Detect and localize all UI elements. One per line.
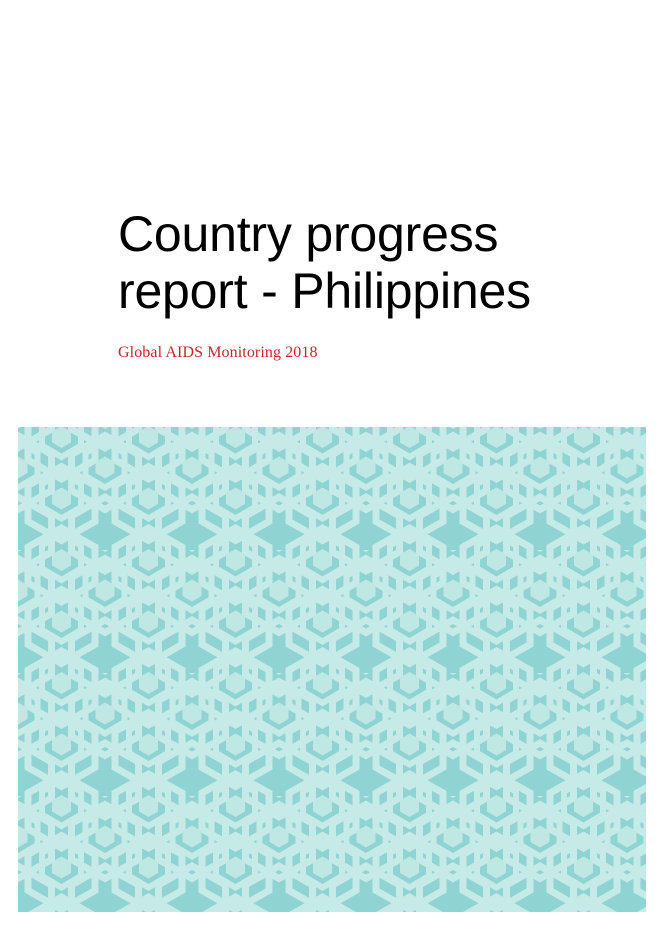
document-cover-page: Country progress report - Philippines Gl…	[0, 0, 665, 940]
title-block: Country progress report - Philippines	[118, 206, 588, 320]
document-subtitle: Global AIDS Monitoring 2018	[118, 343, 318, 363]
page-title: Country progress report - Philippines	[118, 206, 588, 320]
cover-art-image	[18, 427, 646, 912]
hexagon-honeycomb-pattern-icon	[18, 427, 646, 912]
